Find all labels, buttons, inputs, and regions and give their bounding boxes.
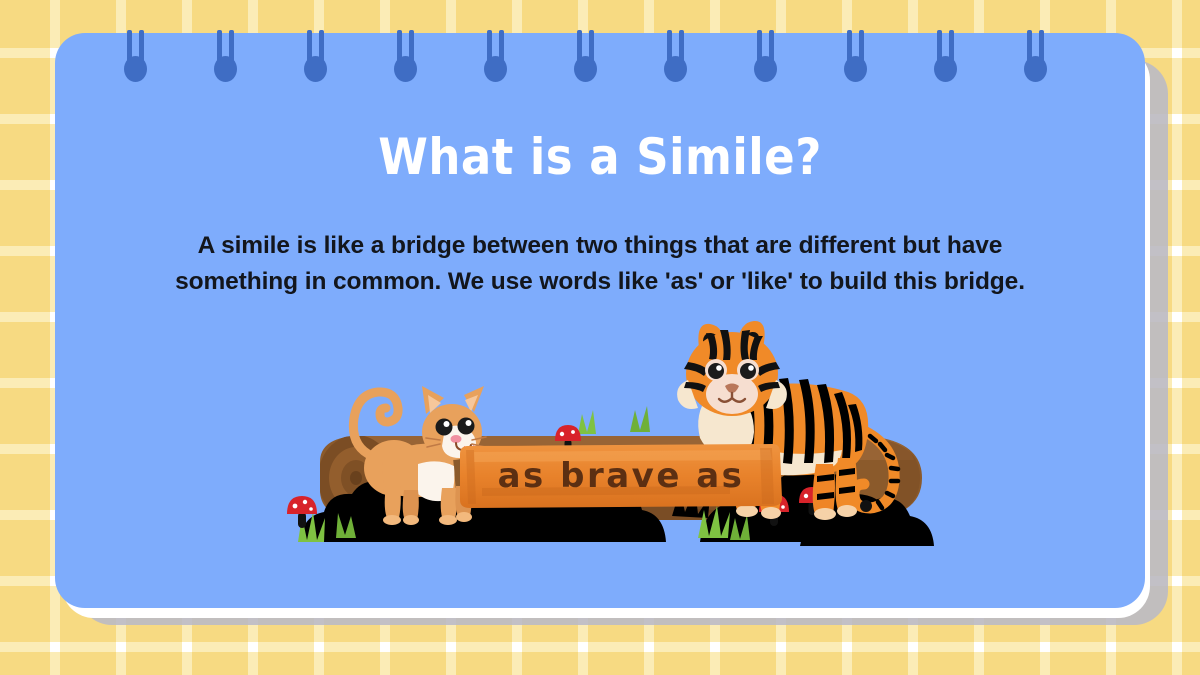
page-title: What is a Simile? bbox=[55, 128, 1145, 186]
simile-illustration: as brave as bbox=[260, 310, 960, 570]
wooden-sign: as brave as bbox=[460, 444, 782, 508]
sign-text: as brave as bbox=[498, 456, 745, 496]
body-paragraph: A simile is like a bridge between two th… bbox=[145, 228, 1055, 300]
slide-canvas: What is a Simile? A simile is like a bri… bbox=[0, 0, 1200, 675]
